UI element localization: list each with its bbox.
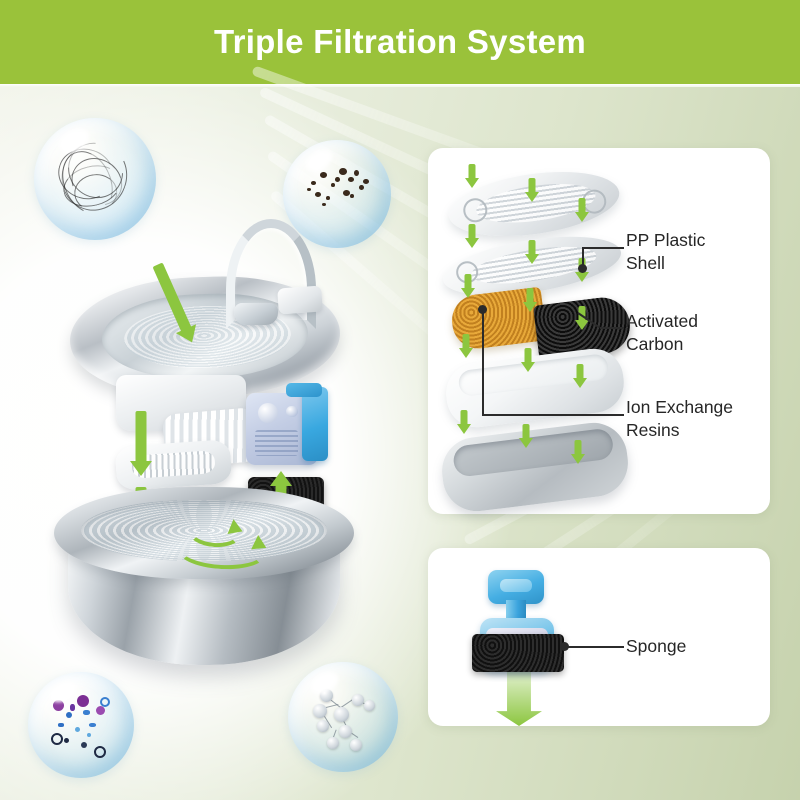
microbe-dot (77, 695, 89, 707)
callout-line-carbon-horizontal (600, 327, 624, 329)
callout-line-1: PP Plastic (626, 229, 705, 252)
microbe-dot (51, 733, 63, 745)
callout-sponge: Sponge (626, 635, 686, 658)
infographic-canvas: Triple Filtration System (0, 0, 800, 800)
microbe-dot (58, 723, 64, 727)
bacteria-bubble (28, 672, 134, 778)
microbe-dot (96, 706, 105, 715)
callout-line-resins-vertical (482, 309, 484, 415)
filter-flow-arrow (572, 364, 588, 390)
spout-base (234, 303, 278, 325)
debris-speck (363, 179, 369, 184)
debris-speck (320, 172, 327, 178)
debris-speck (348, 177, 354, 182)
microbe-dot (66, 712, 72, 718)
filter-flow-arrow (520, 348, 536, 374)
pet-fountain-exploded-view (38, 215, 368, 685)
filter-flow-arrow (518, 424, 534, 450)
flow-arrow-through-filter (130, 411, 152, 477)
debris-speck (331, 183, 335, 187)
microbe-dot (100, 697, 110, 707)
debris-speck (326, 196, 330, 200)
microbe-dot (75, 727, 80, 732)
pump-knob (258, 403, 278, 423)
microbe-dot (94, 746, 106, 758)
filter-flow-arrow (524, 240, 540, 266)
sponge-panel (428, 548, 770, 726)
microbe-dot (83, 710, 90, 715)
debris-speck (322, 203, 326, 206)
callout-line-1: Activated (626, 310, 698, 333)
microbe-dot (70, 704, 75, 711)
sponge-flow-arrow (496, 664, 542, 726)
debris-speck (315, 192, 321, 197)
pump-blue-shield (302, 387, 328, 461)
callout-line-sponge (566, 646, 624, 648)
callout-pp-plastic-shell: PP Plastic Shell (626, 229, 705, 275)
callout-line-pp-shell-horizontal (582, 247, 624, 249)
filter-flow-arrow (574, 198, 590, 224)
page-title: Triple Filtration System (214, 23, 586, 61)
molecule-icon (299, 675, 387, 759)
debris-speck (339, 168, 347, 175)
microbe-dot (81, 742, 87, 748)
filter-flow-arrow (522, 288, 538, 314)
filter-flow-arrow (524, 178, 540, 204)
callout-line-2: Carbon (626, 333, 698, 356)
header-banner: Triple Filtration System (0, 0, 800, 84)
microbe-dot (53, 700, 64, 711)
callout-line-2: Shell (626, 252, 705, 275)
filter-cartridge-panel (428, 148, 770, 514)
callout-line-pp-shell-vertical (582, 247, 584, 269)
pump-port (286, 406, 298, 418)
debris-speck (311, 181, 316, 185)
filter-flow-arrow (570, 440, 586, 466)
callout-line-2: Resins (626, 419, 733, 442)
microbe-dot (64, 738, 69, 743)
debris-speck (335, 177, 340, 182)
pump-cap (488, 570, 544, 604)
microbe-dot (89, 723, 96, 727)
debris-speck (359, 185, 364, 190)
filter-flow-arrow (464, 224, 480, 250)
callout-line-1: Sponge (626, 635, 686, 658)
filter-flow-arrow (458, 334, 474, 360)
callout-activated-carbon: Activated Carbon (626, 310, 698, 356)
filter-flow-arrow (456, 410, 472, 436)
callout-ion-exchange-resins: Ion Exchange Resins (626, 396, 733, 442)
sponge-band (472, 634, 564, 672)
spout-clip (277, 285, 323, 314)
callout-line-resins-horizontal (482, 414, 624, 416)
pump-blue-cap (286, 383, 322, 397)
callout-line-1: Ion Exchange (626, 396, 733, 419)
pet-hair-icon (51, 138, 139, 221)
debris-speck (307, 188, 311, 191)
stainless-steel-bowl (54, 487, 354, 667)
filter-flow-arrow (464, 164, 480, 190)
debris-speck (350, 194, 354, 198)
filter-flow-arrow (460, 274, 476, 300)
debris-speck (354, 170, 359, 176)
microbe-dot (87, 733, 91, 737)
